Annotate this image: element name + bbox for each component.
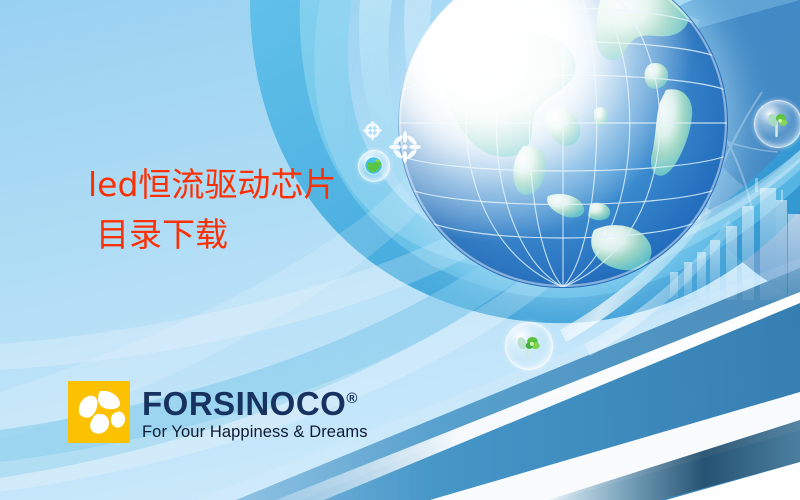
green-sprout-icon xyxy=(514,331,543,360)
page-title: led恒流驱动芯片 目录下载 xyxy=(82,160,422,260)
headline-line-2: 目录下载 xyxy=(82,210,422,260)
logo-text-block: FORSINOCO® For Your Happiness & Dreams xyxy=(142,382,368,442)
pinwheel-petals-icon xyxy=(68,381,130,443)
bubble-leaf-corner xyxy=(754,100,800,148)
starburst-large-icon xyxy=(389,131,421,163)
logo-wordmark: FORSINOCO® xyxy=(142,382,368,421)
bubble-sprout xyxy=(505,322,553,370)
headline-line-1: led恒流驱动芯片 xyxy=(82,160,422,210)
globe-continents-and-grid xyxy=(398,0,728,288)
green-leaf-icon xyxy=(763,109,792,138)
logo-tagline: For Your Happiness & Dreams xyxy=(142,422,368,442)
promo-banner: led恒流驱动芯片 目录下载 FORSINOCO® For Your Happi… xyxy=(0,0,800,500)
registered-trademark-icon: ® xyxy=(346,390,357,407)
forsinoco-logo[interactable]: FORSINOCO® For Your Happiness & Dreams xyxy=(68,381,368,443)
logo-wordmark-text: FORSINOCO xyxy=(142,385,346,422)
starburst-small-icon xyxy=(363,121,382,140)
forsinoco-pinwheel-mark xyxy=(68,381,130,443)
world-globe xyxy=(398,0,728,288)
